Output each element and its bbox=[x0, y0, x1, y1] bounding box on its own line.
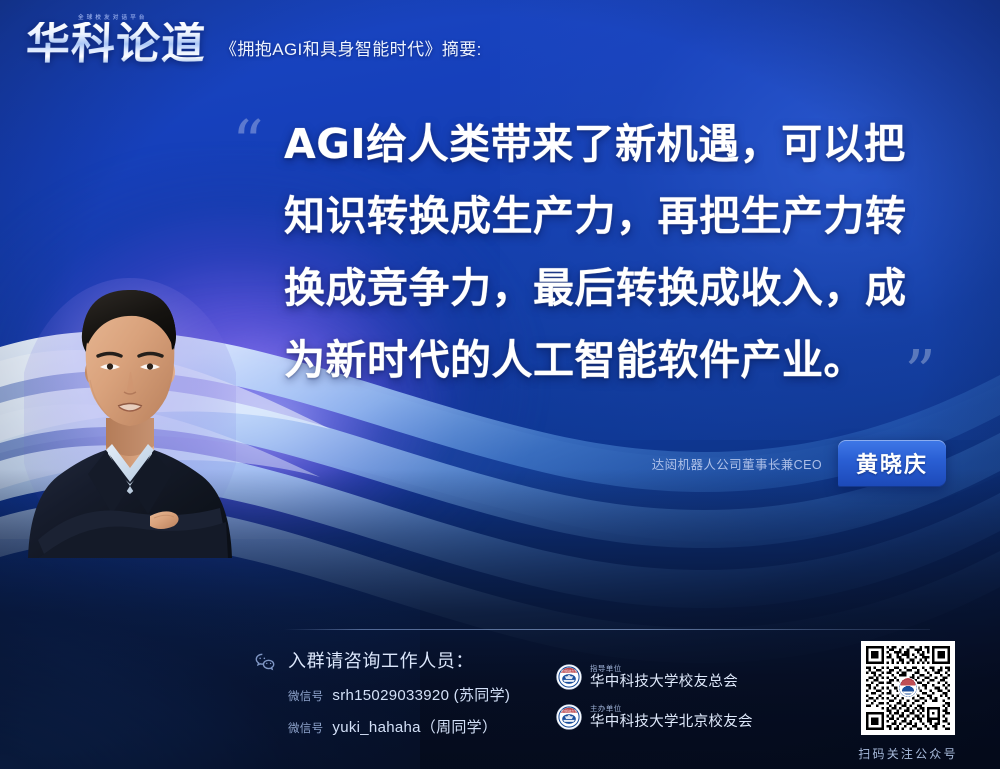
speaker-portrait bbox=[24, 268, 236, 558]
qr-code-image[interactable] bbox=[861, 641, 955, 735]
page-title: 《拥抱AGI和具身智能时代》摘要: bbox=[220, 35, 482, 66]
svg-text:华中科技大学: 华中科技大学 bbox=[561, 709, 577, 713]
header: 全球校友对话平台 华科论道 《拥抱AGI和具身智能时代》摘要: bbox=[26, 16, 482, 66]
organization-row: 华中科技大学 主办单位 华中科技大学北京校友会 bbox=[556, 703, 753, 730]
contact-block: 入群请咨询工作人员： 微信号 srh15029033920 (苏同学) 微信号 … bbox=[254, 647, 510, 748]
wechat-icon bbox=[254, 651, 276, 673]
quote-line: 换成竞争力，最后转换成收入，成 bbox=[284, 252, 940, 324]
quote-close-mark: ” bbox=[904, 342, 936, 404]
organization-text: 指导单位 华中科技大学校友总会 bbox=[590, 663, 738, 690]
attribution: 达闼机器人公司董事长兼CEO 黄晓庆 bbox=[652, 440, 946, 487]
quote-lines: AGI给人类带来了新机遇，可以把 知识转换成生产力，再把生产力转 换成竞争力，最… bbox=[236, 108, 946, 396]
university-emblem-icon: 华中科技大学 bbox=[556, 704, 582, 730]
organization-name: 华中科技大学北京校友会 bbox=[590, 715, 753, 730]
quote-line: AGI给人类带来了新机遇，可以把 bbox=[284, 108, 940, 180]
poster-root: 全球校友对话平台 华科论道 《拥抱AGI和具身智能时代》摘要: “ AGI给人类… bbox=[0, 0, 1000, 769]
qr-block: 扫码关注公众号 bbox=[838, 641, 978, 762]
footer: 入群请咨询工作人员： 微信号 srh15029033920 (苏同学) 微信号 … bbox=[0, 619, 1000, 769]
footer-divider bbox=[284, 629, 930, 630]
organizations: 华中科技大学 指导单位 华中科技大学校友总会 bbox=[556, 663, 753, 743]
speaker-role: 达闼机器人公司董事长兼CEO bbox=[652, 454, 822, 473]
wechat-row: 微信号 srh15029033920 (苏同学) bbox=[288, 684, 510, 705]
quote-line: 为新时代的人工智能软件产业。 bbox=[284, 324, 940, 396]
speaker-name-badge: 黄晓庆 bbox=[838, 440, 946, 487]
wechat-label: 微信号 bbox=[288, 688, 323, 704]
wechat-id[interactable]: yuki_hahaha（周同学） bbox=[332, 716, 497, 737]
quote-line: 知识转换成生产力，再把生产力转 bbox=[284, 180, 940, 252]
organization-kind: 指导单位 bbox=[590, 663, 738, 674]
organization-text: 主办单位 华中科技大学北京校友会 bbox=[590, 703, 753, 730]
svg-text:华中科技大学: 华中科技大学 bbox=[561, 669, 577, 673]
qr-caption: 扫码关注公众号 bbox=[838, 745, 978, 762]
brand-logo-text: 华科论道 bbox=[25, 22, 207, 66]
contact-texts: 入群请咨询工作人员： 微信号 srh15029033920 (苏同学) 微信号 … bbox=[288, 647, 510, 748]
wechat-label: 微信号 bbox=[288, 720, 323, 736]
wechat-row: 微信号 yuki_hahaha（周同学） bbox=[288, 716, 510, 737]
wechat-id[interactable]: srh15029033920 (苏同学) bbox=[332, 684, 510, 705]
brand-logo[interactable]: 全球校友对话平台 华科论道 bbox=[26, 16, 206, 66]
contact-title: 入群请咨询工作人员： bbox=[288, 647, 510, 673]
organization-row: 华中科技大学 指导单位 华中科技大学校友总会 bbox=[556, 663, 753, 690]
organization-kind: 主办单位 bbox=[590, 703, 753, 714]
quote-block: “ AGI给人类带来了新机遇，可以把 知识转换成生产力，再把生产力转 换成竞争力… bbox=[236, 108, 946, 396]
organization-name: 华中科技大学校友总会 bbox=[590, 675, 738, 690]
university-emblem-icon: 华中科技大学 bbox=[556, 664, 582, 690]
